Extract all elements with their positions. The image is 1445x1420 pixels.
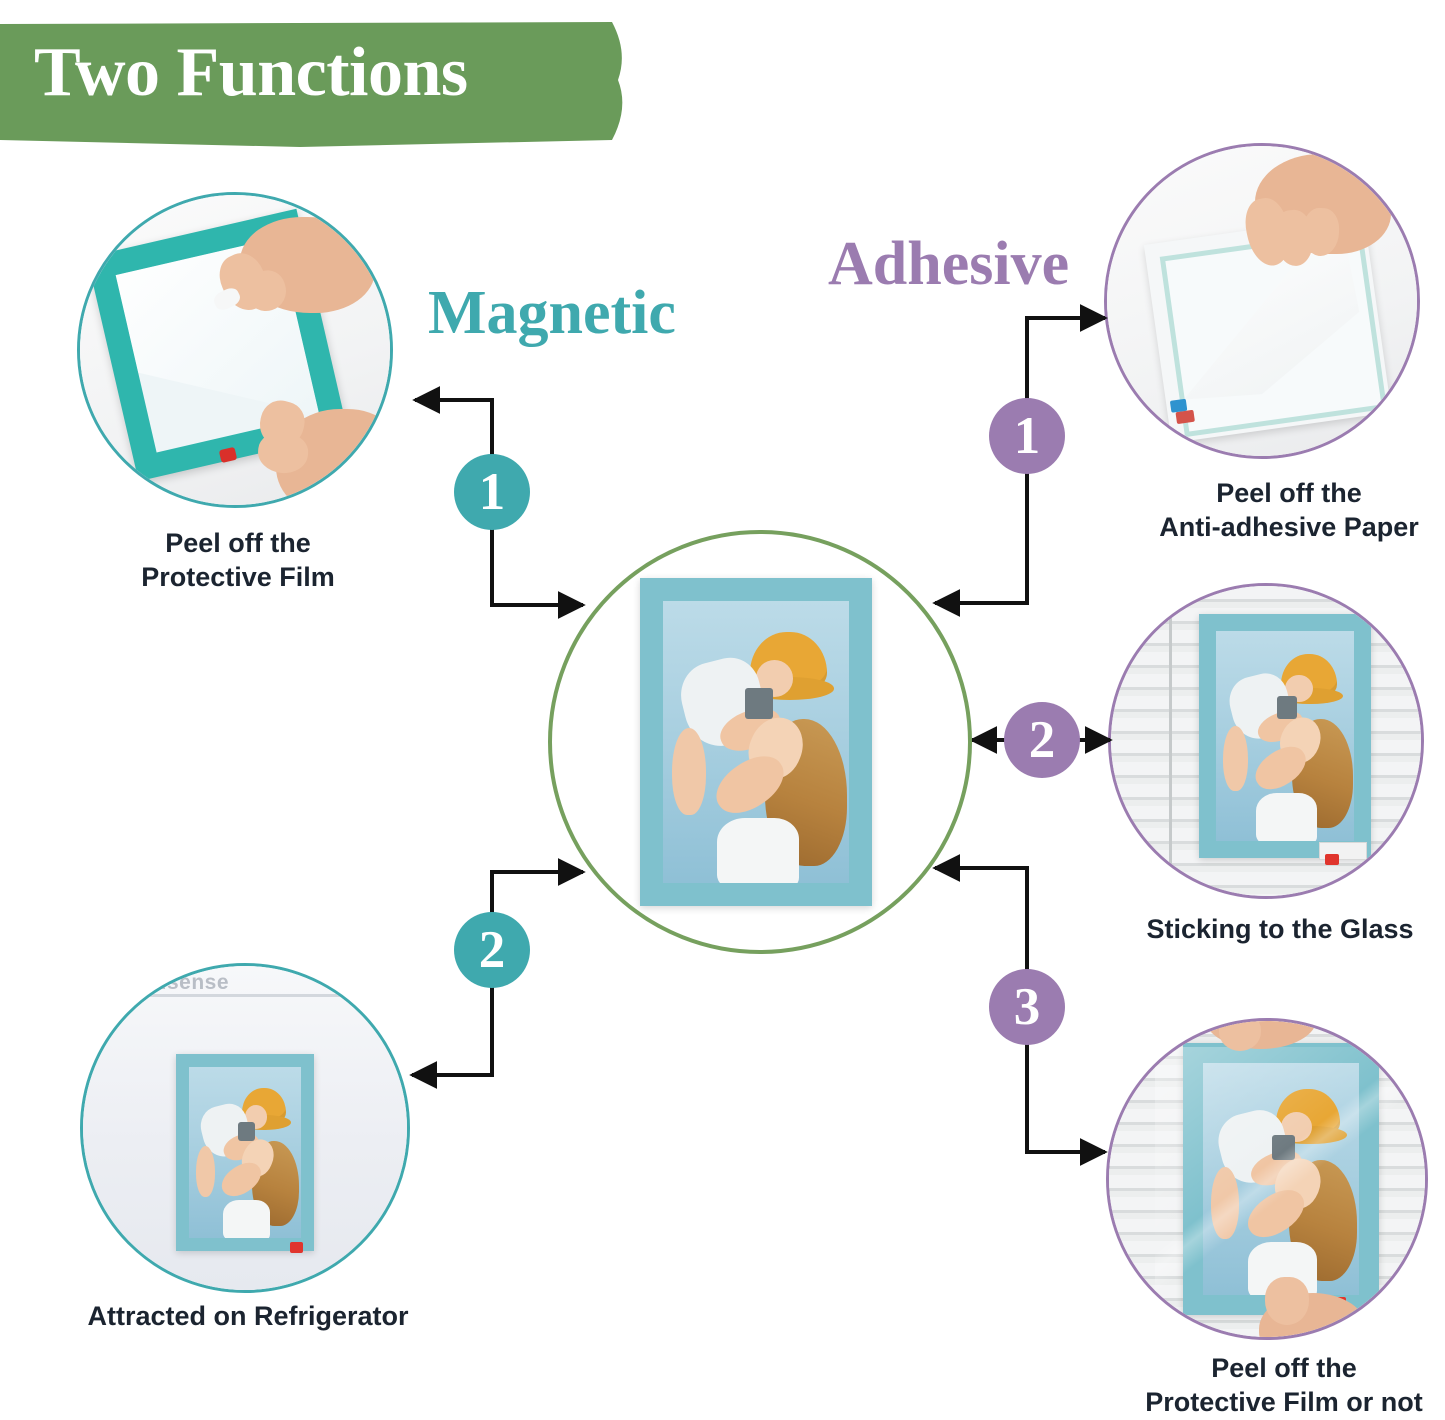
scene-peel-protective-film [80, 195, 390, 505]
protective-film-sheen [1155, 1047, 1405, 1297]
caption-adhesive-step-1: Peel off the Anti-adhesive Paper [1136, 477, 1442, 545]
step-badge-adhesive-2: 2 [1004, 702, 1080, 778]
step-badge-adhesive-1: 1 [989, 398, 1065, 474]
photo-adhesive-step-1 [1104, 143, 1420, 459]
framed-photo-on-glass [1199, 614, 1371, 858]
photo-adhesive-step-2 [1108, 583, 1424, 899]
caption-magnetic-step-1: Peel off the Protective Film [128, 527, 348, 595]
center-framed-photo [640, 578, 872, 906]
center-hero [548, 530, 972, 954]
step-badge-adhesive-3: 3 [989, 969, 1065, 1045]
scene-peel-film-or-not [1109, 1021, 1425, 1337]
caption-adhesive-step-2: Sticking to the Glass [1122, 913, 1438, 947]
framed-photo-on-fridge [176, 1054, 314, 1251]
fridge-brand-label: Hisense [145, 971, 229, 995]
photo-adhesive-step-3 [1106, 1018, 1428, 1340]
scene-sticking-to-glass [1111, 586, 1421, 896]
step-badge-magnetic-1: 1 [454, 454, 530, 530]
scene-peel-anti-adhesive-paper [1107, 146, 1417, 456]
page-title: Two Functions [34, 38, 468, 108]
photo-magnetic-step-2: Hisense [80, 963, 410, 1293]
caption-magnetic-step-2: Attracted on Refrigerator [58, 1300, 438, 1334]
caption-adhesive-step-3: Peel off the Protective Film or not [1128, 1352, 1440, 1420]
section-label-magnetic: Magnetic [428, 282, 676, 344]
scene-attached-to-refrigerator: Hisense [83, 966, 407, 1290]
photo-magnetic-step-1 [77, 192, 393, 508]
step-badge-magnetic-2: 2 [454, 912, 530, 988]
section-label-adhesive: Adhesive [828, 233, 1069, 295]
